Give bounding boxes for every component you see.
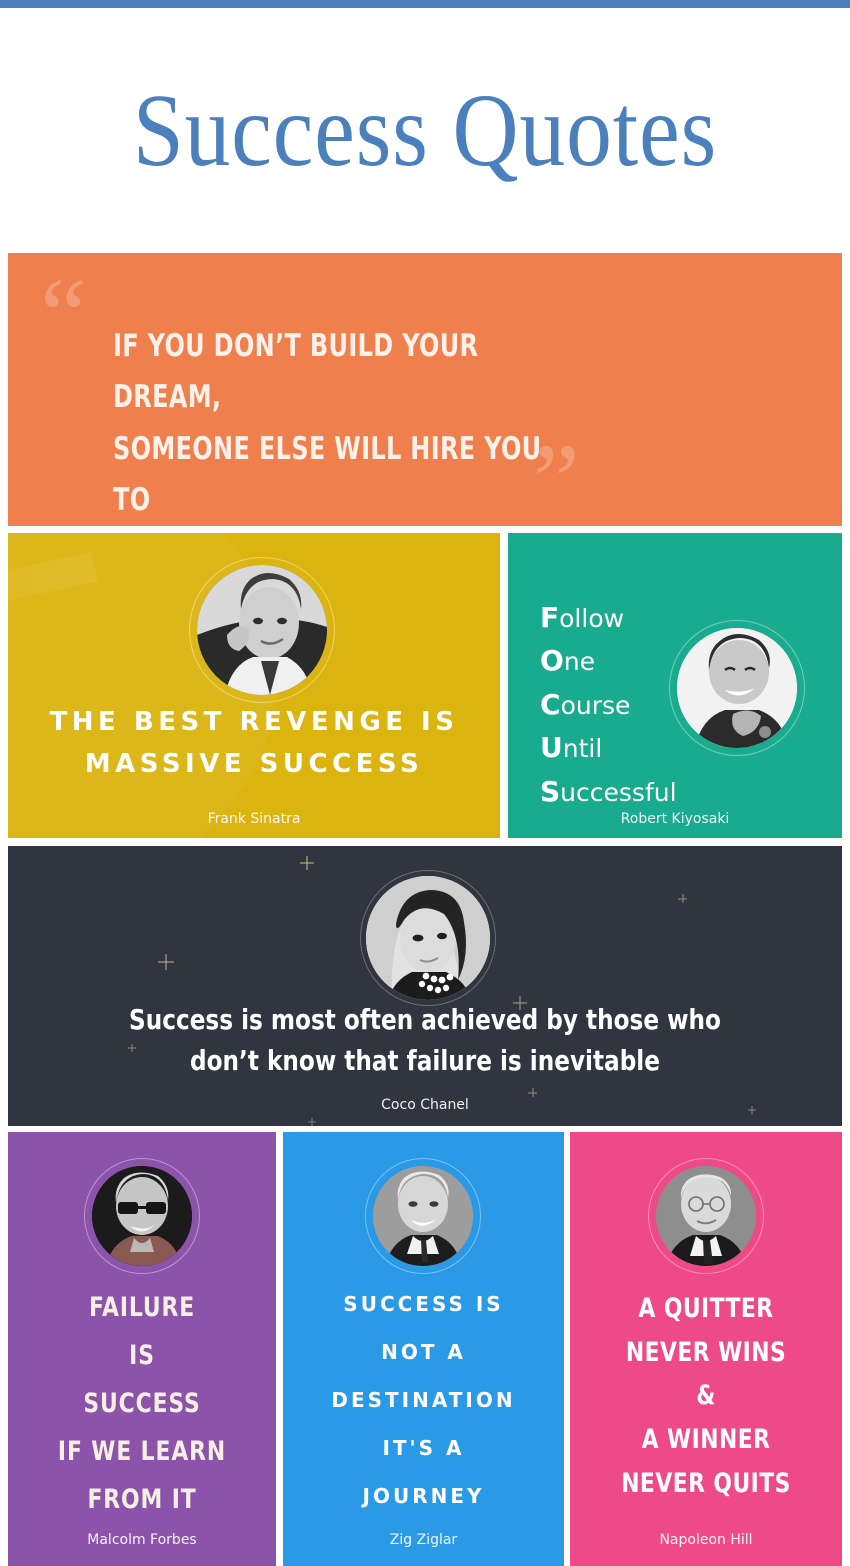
avatar-kiyosaki [677, 628, 797, 748]
sparkle-icon [300, 856, 314, 870]
quote-card-ziglar: SUCCESS IS NOT A DESTINATION IT'S A JOUR… [283, 1132, 564, 1566]
avatar-image-forbes [92, 1166, 192, 1266]
avatar-image-hill [656, 1166, 756, 1266]
avatar-forbes [92, 1166, 192, 1266]
quote-text-ziglar: SUCCESS IS NOT A DESTINATION IT'S A JOUR… [283, 1280, 564, 1520]
avatar-hill [656, 1166, 756, 1266]
byline-ziglar: Zig Ziglar [283, 1532, 564, 1548]
avatar-image-chanel [366, 876, 490, 1000]
avatar-image-kiyosaki [677, 628, 797, 748]
open-quote-icon: “ [40, 273, 87, 357]
byline-sinatra: Frank Sinatra [8, 811, 500, 827]
byline-forbes: Malcolm Forbes [8, 1532, 276, 1548]
avatar-ziglar [373, 1166, 473, 1266]
sparkle-icon [308, 1118, 316, 1126]
avatar-image-sinatra [197, 565, 327, 695]
quote-card-forbes: FAILURE IS SUCCESS IF WE LEARN FROM IT M… [8, 1132, 276, 1566]
quote-card-ambani: “ ” IF YOU DON’T BUILD YOUR DREAM, SOMEO… [8, 253, 842, 526]
page-title: Success Quotes [133, 79, 717, 183]
quote-text-hill: A QUITTER NEVER WINS & A WINNER NEVER QU… [584, 1287, 829, 1506]
sparkle-icon [528, 1088, 537, 1097]
avatar-image-ziglar [373, 1166, 473, 1266]
quote-card-sinatra: THE BEST REVENGE IS MASSIVE SUCCESS Fran… [8, 533, 500, 838]
byline-chanel: Coco Chanel [8, 1097, 842, 1113]
quote-card-chanel: Success is most often achieved by those … [8, 846, 842, 1126]
byline-kiyosaki: Robert Kiyosaki [508, 811, 842, 827]
quote-text-kiyosaki: Follow One Course Until Successful [540, 596, 677, 813]
avatar-sinatra [197, 565, 327, 695]
sparkle-icon [158, 954, 174, 970]
quote-text-chanel: Success is most often achieved by those … [41, 1000, 808, 1081]
avatar-chanel [366, 876, 490, 1000]
quote-card-hill: A QUITTER NEVER WINS & A WINNER NEVER QU… [570, 1132, 842, 1566]
quote-text-forbes: FAILURE IS SUCCESS IF WE LEARN FROM IT [21, 1284, 262, 1524]
byline-hill: Napoleon Hill [570, 1532, 842, 1548]
sparkle-icon [678, 894, 687, 903]
page-title-area: Success Quotes [0, 8, 850, 253]
quote-text-ambani: IF YOU DON’T BUILD YOUR DREAM, SOMEONE E… [113, 321, 569, 526]
quote-text-sinatra: THE BEST REVENGE IS MASSIVE SUCCESS [8, 701, 500, 785]
quote-card-kiyosaki: Follow One Course Until Successful Rober… [508, 533, 842, 838]
top-accent-bar [0, 0, 850, 8]
